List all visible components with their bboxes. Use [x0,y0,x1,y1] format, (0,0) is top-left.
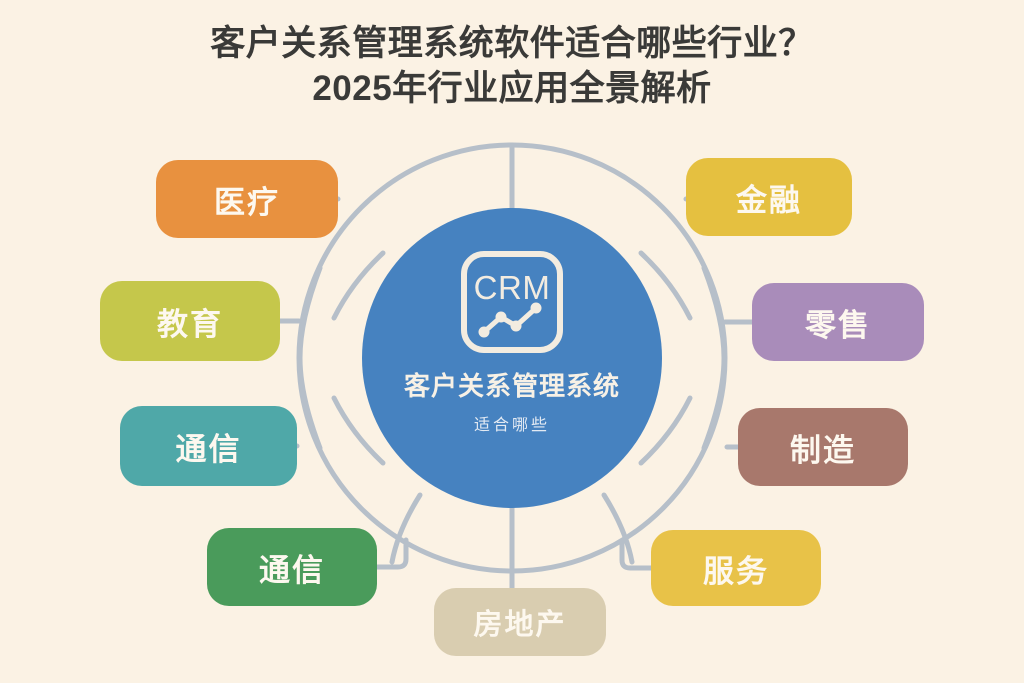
crm-hub: CRM 客户关系管理系统 适合哪些 [362,208,662,508]
infographic-canvas: 客户关系管理系统软件适合哪些行业？ 2025年行业应用全景解析 [0,0,1024,683]
svg-text:CRM: CRM [474,269,551,306]
inner-arc-right [704,268,724,448]
cell-sep-bottom-right [604,495,632,562]
industry-service-label: 服务 [703,546,769,591]
industry-communication[interactable]: 通信 [207,528,377,606]
industry-manufacturing-label: 制造 [790,425,856,470]
hub-subtitle: 适合哪些 [474,411,550,435]
inner-arc-left [300,268,320,448]
industry-healthcare-label: 医疗 [214,177,280,222]
industry-finance-label: 金融 [736,175,802,220]
industry-retail-label: 零售 [805,300,871,345]
industry-finance[interactable]: 金融 [686,158,852,236]
industry-telecom-label: 通信 [176,424,242,469]
industry-realestate-label: 房地产 [473,601,566,643]
industry-manufacturing[interactable]: 制造 [738,408,908,486]
industry-communication-label: 通信 [259,545,325,590]
hub-title: 客户关系管理系统 [404,366,620,403]
industry-realestate[interactable]: 房地产 [434,588,606,656]
industry-telecom[interactable]: 通信 [120,406,297,486]
industry-healthcare[interactable]: 医疗 [156,160,338,238]
industry-service[interactable]: 服务 [651,530,821,606]
crm-chart-icon: CRM [456,246,568,358]
industry-retail[interactable]: 零售 [752,283,924,361]
industry-education-label: 教育 [157,299,223,344]
industry-education[interactable]: 教育 [100,281,280,361]
